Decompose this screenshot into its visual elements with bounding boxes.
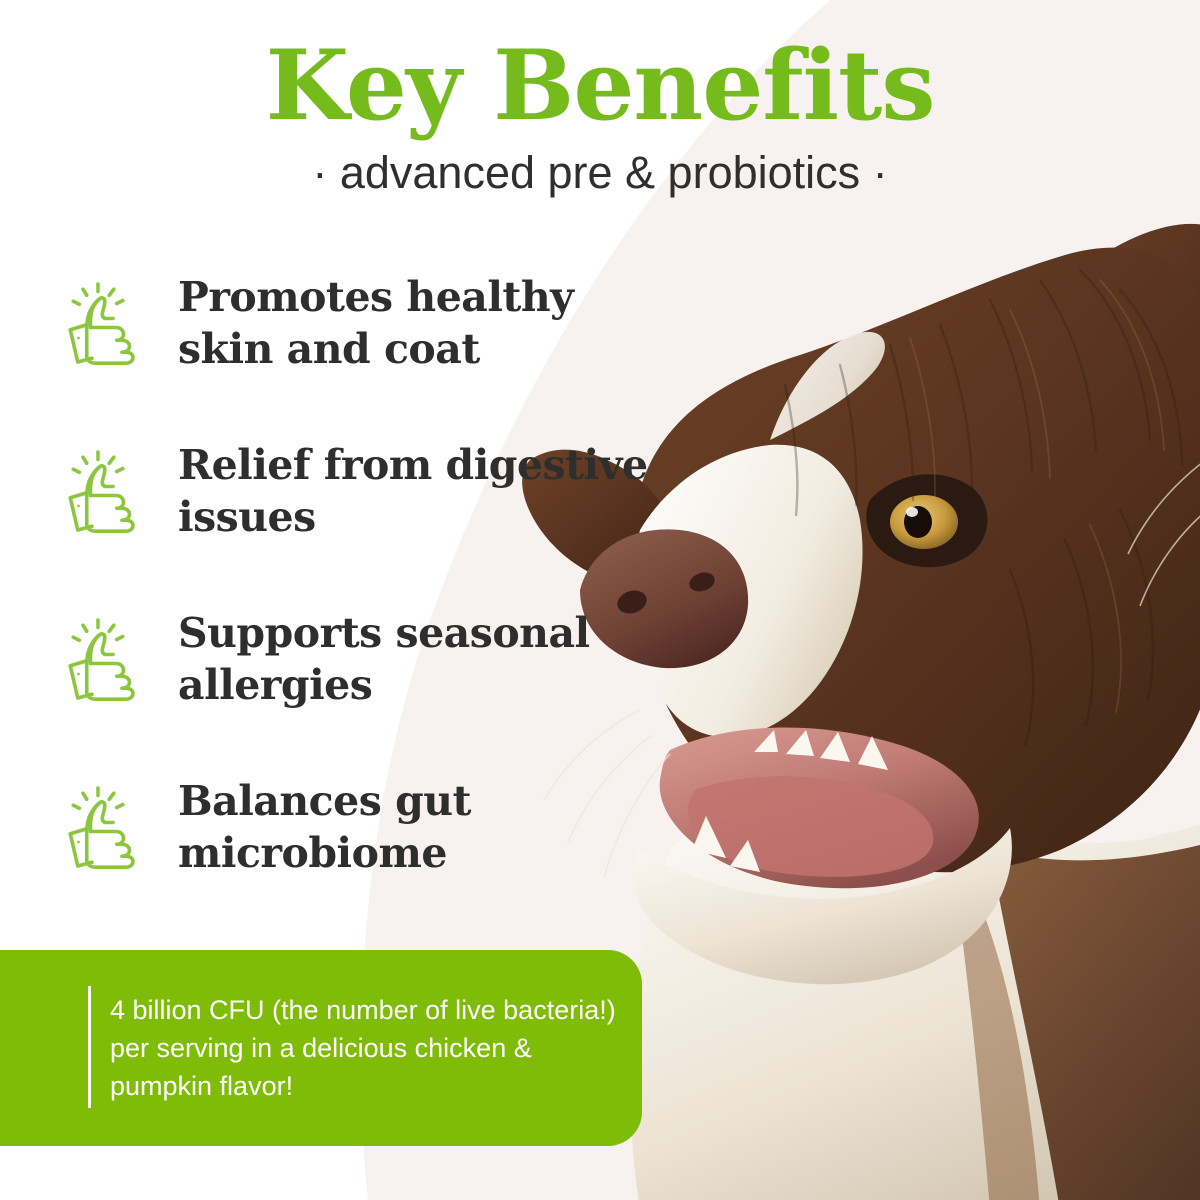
benefit-item: Relief from digestive issues	[62, 440, 682, 608]
thumbs-up-icon	[62, 782, 158, 878]
benefit-label: Promotes healthy skin and coat	[178, 272, 682, 375]
thumbs-up-icon	[62, 446, 158, 542]
header: Key Benefits · advanced pre & probiotics…	[0, 38, 1200, 195]
banner-text: 4 billion CFU (the number of live bacter…	[110, 991, 618, 1106]
benefit-label: Supports seasonal allergies	[178, 608, 682, 711]
key-benefits-poster: Key Benefits · advanced pre & probiotics…	[0, 0, 1200, 1200]
page-title: Key Benefits	[0, 38, 1200, 134]
benefit-item: Supports seasonal allergies	[62, 608, 682, 776]
thumbs-up-icon	[62, 278, 158, 374]
cfu-callout-banner: 4 billion CFU (the number of live bacter…	[0, 950, 642, 1146]
banner-divider-rule	[88, 986, 91, 1108]
benefit-item: Promotes healthy skin and coat	[62, 272, 682, 440]
benefit-label: Relief from digestive issues	[178, 440, 682, 543]
benefits-list: Promotes healthy skin and coat	[62, 272, 682, 944]
benefit-item: Balances gut microbiome	[62, 776, 682, 944]
thumbs-up-icon	[62, 614, 158, 710]
benefit-label: Balances gut microbiome	[178, 776, 682, 879]
page-subtitle: · advanced pre & probiotics ·	[0, 150, 1200, 195]
